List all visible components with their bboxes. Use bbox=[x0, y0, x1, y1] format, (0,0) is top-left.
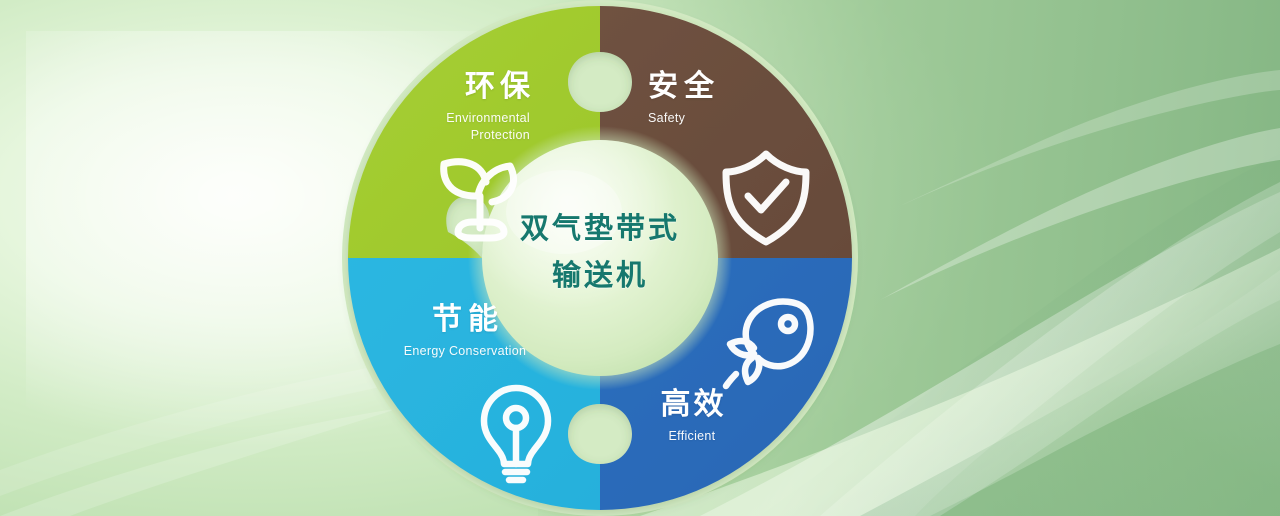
puzzle-circle bbox=[342, 0, 858, 516]
infographic-canvas: 环保 Environmental Protection 安全 Safety 节能… bbox=[0, 0, 1280, 516]
